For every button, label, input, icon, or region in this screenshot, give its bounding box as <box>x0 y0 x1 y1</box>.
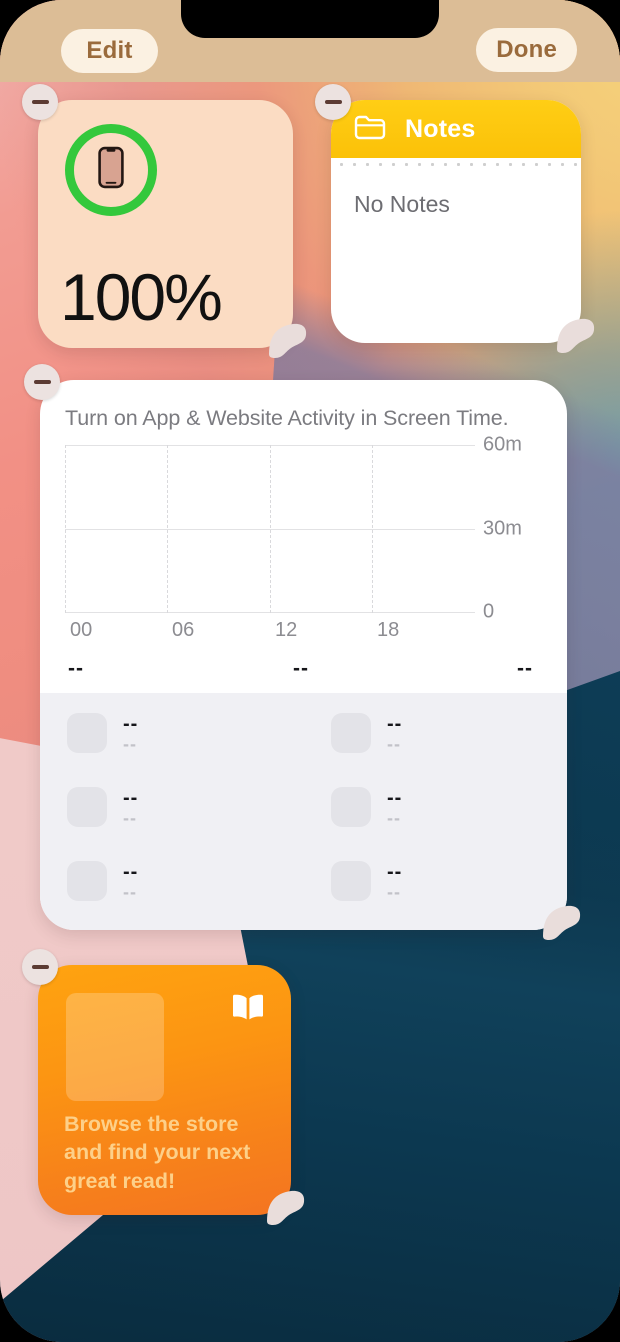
app-icon-placeholder <box>67 861 107 901</box>
widget-batteries[interactable]: 100% <box>38 100 293 348</box>
x-tick-label-12: 12 <box>270 619 297 642</box>
app-icon-placeholder <box>331 713 371 753</box>
notch <box>181 0 439 38</box>
remove-screen-time-widget-button[interactable] <box>24 364 60 400</box>
app-name-label: -- <box>123 713 138 735</box>
y-tick-label-60m: 60m <box>483 434 522 457</box>
app-icon-placeholder <box>67 787 107 827</box>
app-duration-label: -- <box>123 734 137 754</box>
app-name-label: -- <box>387 713 402 735</box>
book-icon <box>231 993 265 1026</box>
summary-dash-3: -- <box>517 657 533 681</box>
widget-screen-time[interactable]: Turn on App & Website Activity in Screen… <box>40 380 567 930</box>
y-tick-label-30m: 30m <box>483 518 522 541</box>
chart-plot-area <box>65 445 475 613</box>
gridline-00 <box>65 445 66 613</box>
iphone-icon <box>98 147 124 194</box>
y-tick-label-0: 0 <box>483 601 494 624</box>
app-duration-label: -- <box>123 808 137 828</box>
batteries-widget-body[interactable]: 100% <box>38 100 293 348</box>
notes-header: Notes <box>331 100 581 158</box>
app-name-label: -- <box>123 861 138 883</box>
app-name-label: -- <box>387 787 402 809</box>
minus-icon <box>325 100 342 104</box>
app-icon-placeholder <box>67 713 107 753</box>
app-list-item[interactable]: -- -- <box>331 713 402 755</box>
notes-perforation <box>331 158 581 167</box>
battery-percent-label: 100% <box>60 264 221 330</box>
notes-widget-body[interactable]: Notes No Notes <box>331 100 581 343</box>
summary-dash-1: -- <box>68 657 84 681</box>
app-duration-label: -- <box>387 882 401 902</box>
done-button[interactable]: Done <box>476 28 577 72</box>
summary-dash-2: -- <box>293 657 309 681</box>
app-list-item[interactable]: -- -- <box>67 861 138 903</box>
app-icon-placeholder <box>331 787 371 827</box>
x-tick-label-00: 00 <box>65 619 92 642</box>
app-list-item[interactable]: -- -- <box>67 787 138 829</box>
remove-books-widget-button[interactable] <box>22 949 58 985</box>
minus-icon <box>34 380 51 384</box>
edit-button[interactable]: Edit <box>61 29 158 73</box>
app-duration-label: -- <box>387 808 401 828</box>
remove-batteries-widget-button[interactable] <box>22 84 58 120</box>
minus-icon <box>32 100 49 104</box>
app-duration-label: -- <box>123 882 137 902</box>
screen-time-summary-row: -- -- -- <box>40 657 567 683</box>
notes-empty-label: No Notes <box>331 167 581 218</box>
app-duration-label: -- <box>387 734 401 754</box>
screen-time-chart: 60m 30m 0 00 06 12 18 <box>65 445 535 613</box>
x-tick-label-18: 18 <box>372 619 399 642</box>
battery-ring <box>65 124 157 216</box>
remove-notes-widget-button[interactable] <box>315 84 351 120</box>
widget-notes[interactable]: Notes No Notes <box>331 100 581 343</box>
widget-books[interactable]: Browse the store and find your next grea… <box>38 965 291 1215</box>
app-icon-placeholder <box>331 861 371 901</box>
folder-icon <box>354 114 386 145</box>
app-name-label: -- <box>123 787 138 809</box>
x-tick-label-06: 06 <box>167 619 194 642</box>
gridline-12 <box>270 445 271 613</box>
app-list-item[interactable]: -- -- <box>331 787 402 829</box>
phone-screen: Edit Done 100% <box>0 0 620 1342</box>
screen-time-app-list: -- -- -- -- -- -- <box>40 693 567 930</box>
app-list-item[interactable]: -- -- <box>331 861 402 903</box>
gridline-06 <box>167 445 168 613</box>
minus-icon <box>32 965 49 969</box>
screen-time-title: Turn on App & Website Activity in Screen… <box>40 380 567 431</box>
books-promo-text: Browse the store and find your next grea… <box>64 1110 264 1195</box>
app-list-item[interactable]: -- -- <box>67 713 138 755</box>
book-cover-placeholder <box>66 993 164 1101</box>
notes-title: Notes <box>405 115 475 144</box>
app-name-label: -- <box>387 861 402 883</box>
books-widget-body[interactable]: Browse the store and find your next grea… <box>38 965 291 1215</box>
screen-time-widget-body[interactable]: Turn on App & Website Activity in Screen… <box>40 380 567 930</box>
gridline-18 <box>372 445 373 613</box>
